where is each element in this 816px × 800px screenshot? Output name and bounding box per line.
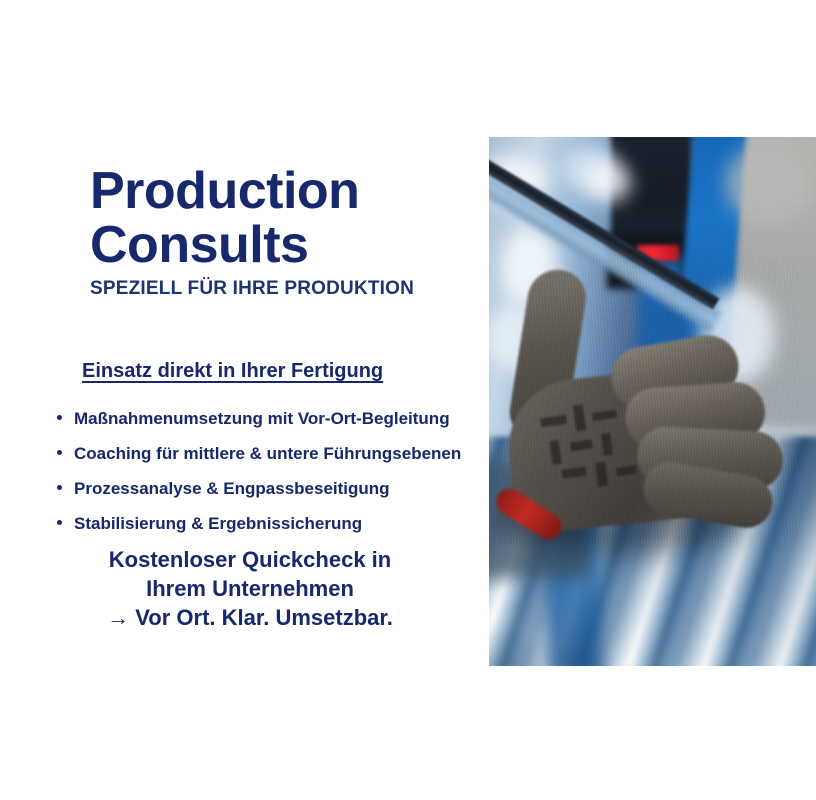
- photo-light-blob: [585, 163, 631, 203]
- slide-canvas: Production Consults SPEZIELL FÜR IHRE PR…: [0, 0, 816, 800]
- hero-photo: [489, 137, 816, 666]
- photo-glove-knit-texture: [497, 255, 797, 545]
- brand-title-line-1: Production: [90, 164, 480, 218]
- list-item-label: Maßnahmenumsetzung mit Vor-Ort-Begleitun…: [74, 409, 450, 428]
- benefits-list: Maßnahmenumsetzung mit Vor-Ort-Begleitun…: [56, 408, 486, 548]
- list-item: Prozessanalyse & Engpassbeseitigung: [56, 478, 486, 499]
- cta-line-3: → Vor Ort. Klar. Umsetzbar.: [40, 603, 460, 632]
- brand-block: Production Consults SPEZIELL FÜR IHRE PR…: [90, 164, 480, 300]
- cta-line-2: Ihrem Unternehmen: [40, 574, 460, 603]
- list-item: Stabilisierung & Ergebnissicherung: [56, 513, 486, 534]
- photo-gloved-hand: [497, 225, 797, 525]
- list-item: Maßnahmenumsetzung mit Vor-Ort-Begleitun…: [56, 408, 486, 429]
- call-to-action-block: Kostenloser Quickcheck in Ihrem Unterneh…: [40, 545, 460, 632]
- bullet-dot-icon: [57, 520, 62, 525]
- brand-title-line-2: Consults: [90, 218, 480, 272]
- list-item-label: Stabilisierung & Ergebnissicherung: [74, 514, 362, 533]
- list-item-label: Prozessanalyse & Engpassbeseitigung: [74, 479, 390, 498]
- list-item: Coaching für mittlere & untere Führungse…: [56, 443, 486, 464]
- bullet-dot-icon: [57, 450, 62, 455]
- hero-photo-inner: [489, 137, 816, 666]
- list-item-label: Coaching für mittlere & untere Führungse…: [74, 444, 461, 463]
- bullet-dot-icon: [57, 485, 62, 490]
- section-heading: Einsatz direkt in Ihrer Fertigung: [82, 359, 383, 383]
- bullet-dot-icon: [57, 415, 62, 420]
- text-column: Production Consults SPEZIELL FÜR IHRE PR…: [0, 0, 489, 800]
- brand-tagline: SPEZIELL FÜR IHRE PRODUKTION: [90, 278, 480, 300]
- photo-light-blob: [725, 143, 815, 223]
- cta-line-1: Kostenloser Quickcheck in: [40, 545, 460, 574]
